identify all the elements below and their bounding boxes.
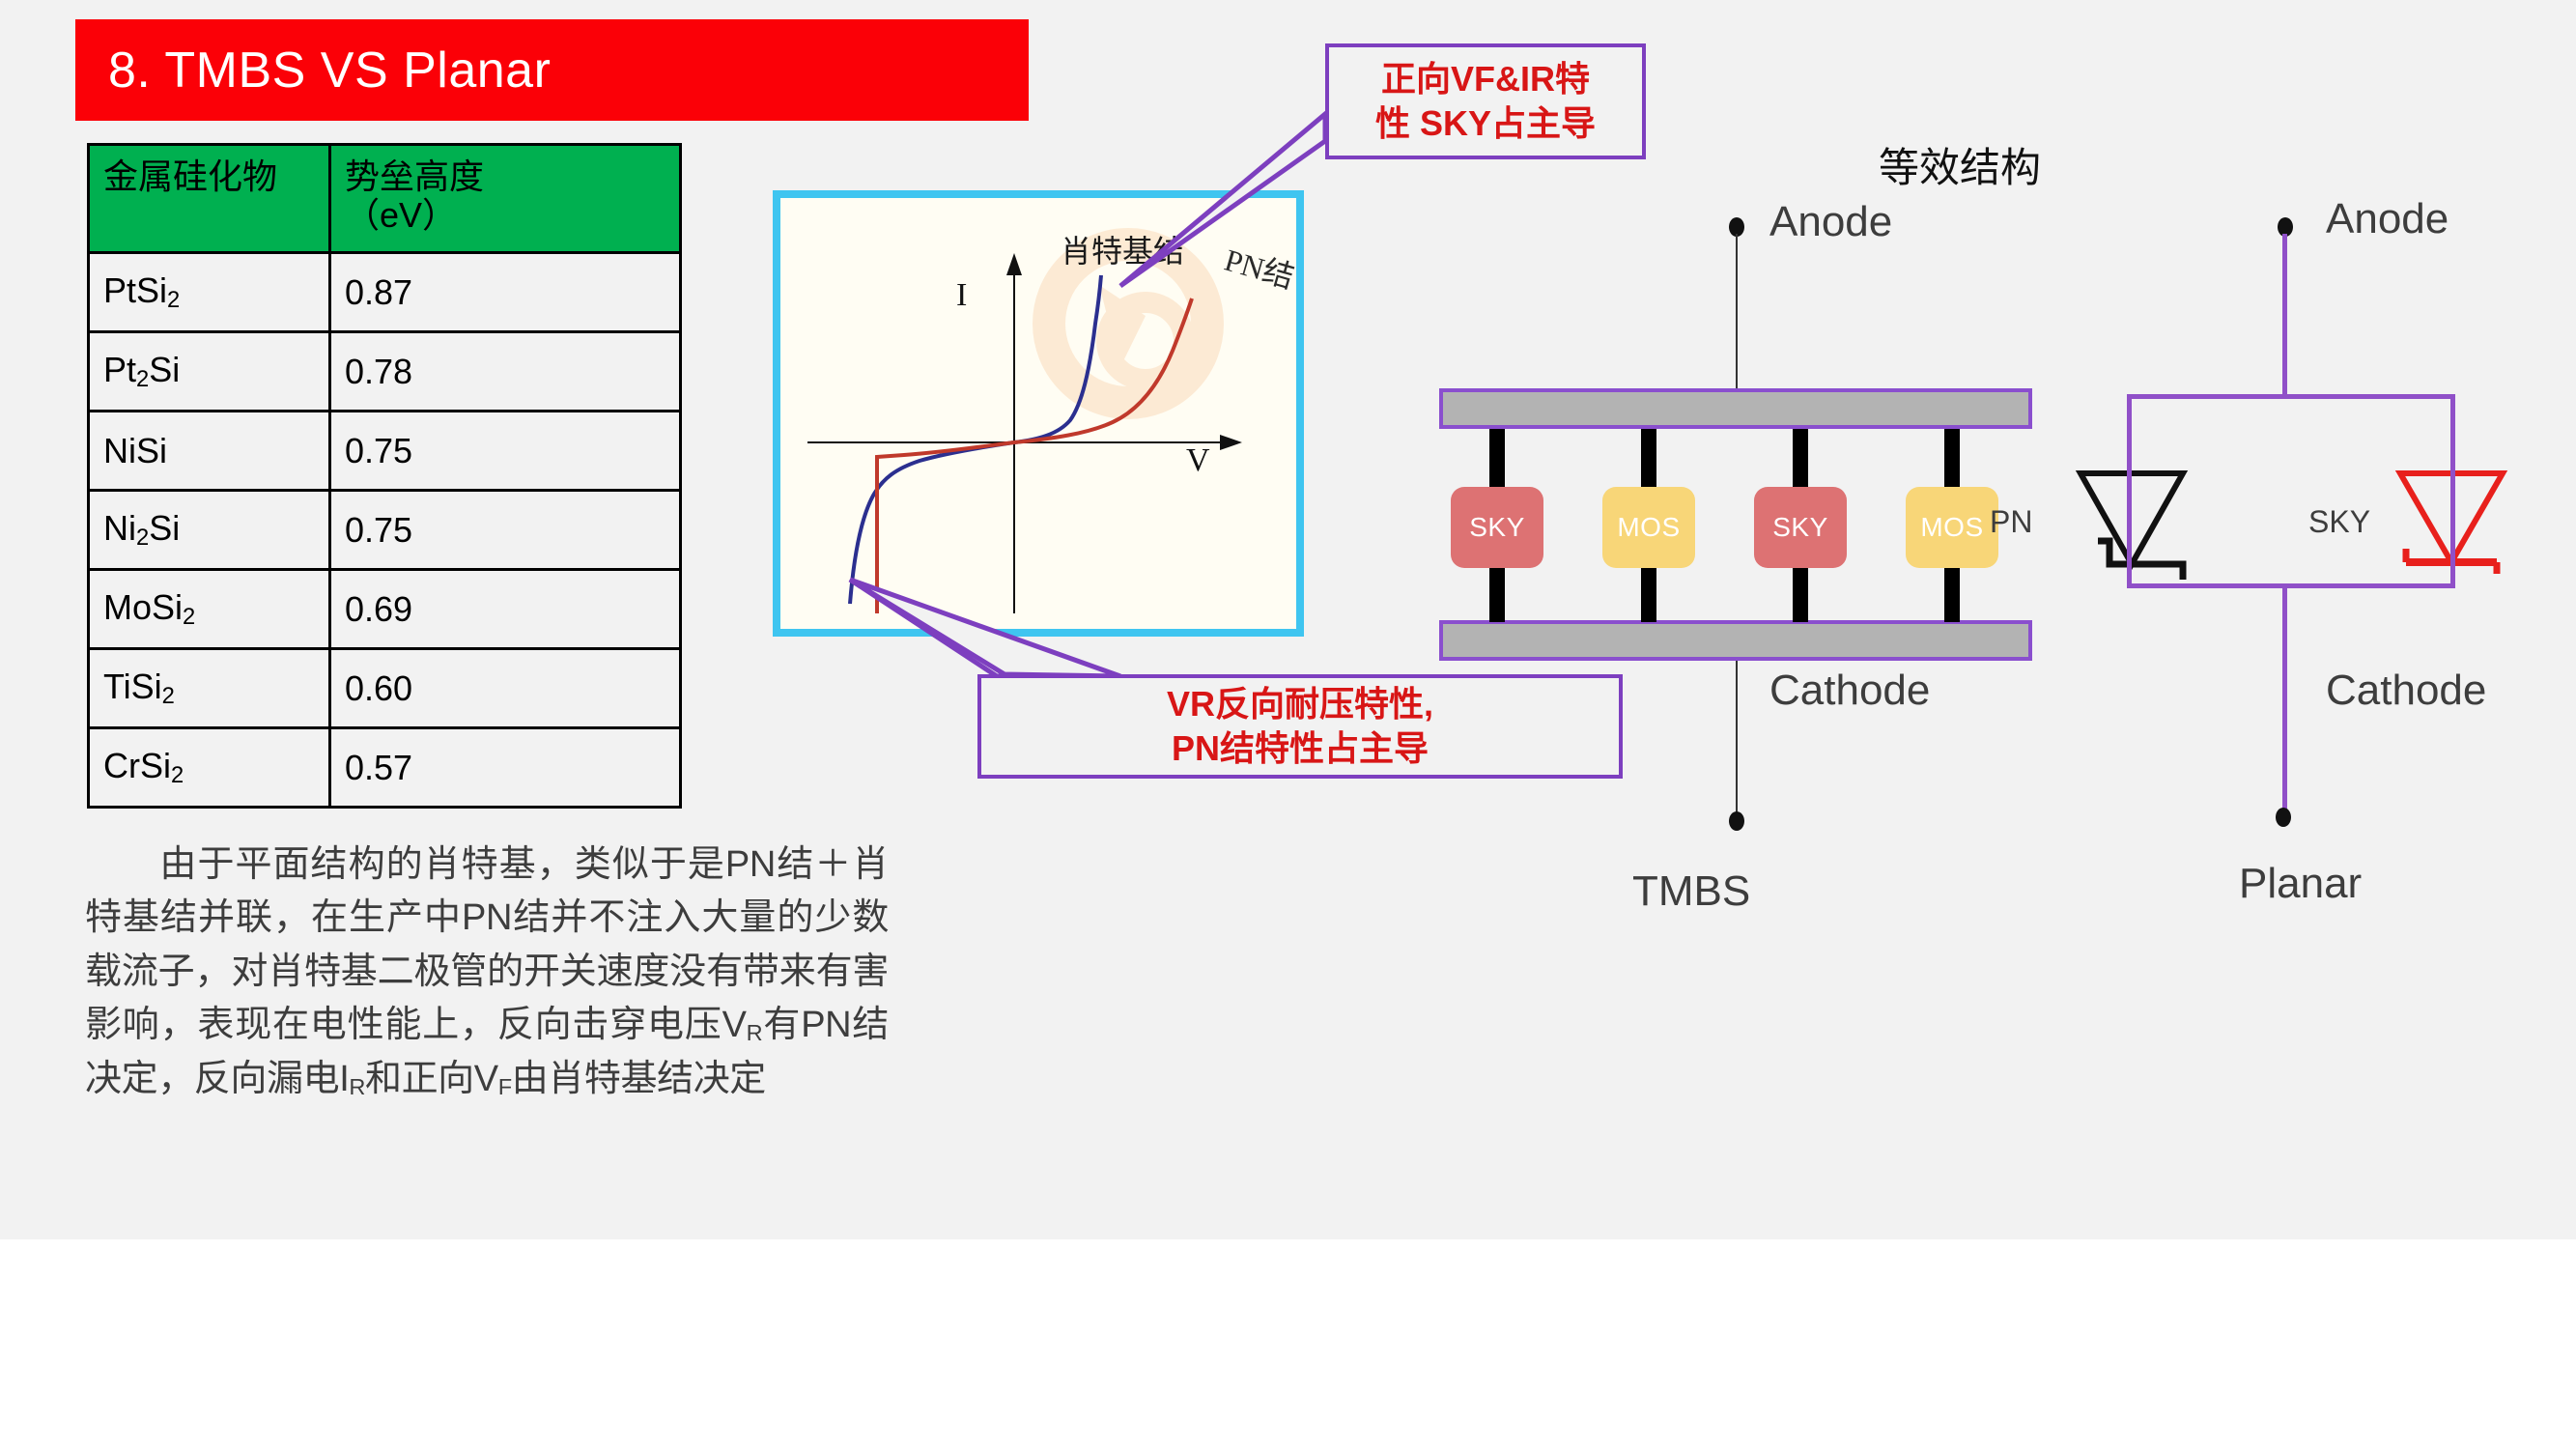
planar-structure-name: Planar — [2239, 860, 2362, 908]
tmbs-cell-mos-2: MOS — [1906, 487, 1998, 568]
tmbs-stub — [1944, 568, 1960, 622]
subscript: 2 — [171, 762, 184, 788]
tmbs-anode-label: Anode — [1769, 198, 1892, 246]
cathode-lead — [1736, 661, 1738, 815]
table-row: NiSi 0.75 — [89, 412, 681, 491]
slide-footer: Mo tive SEMI MOTIVE SEMICONDUCTOR CORP. … — [0, 1239, 2576, 1449]
tmbs-stub — [1641, 429, 1656, 487]
silicide-barrier-table: 金属硅化物 势垒高度 （eV） PtSi2 0.87 Pt2Si 0.78 Ni… — [87, 143, 682, 809]
tmbs-stub — [1641, 568, 1656, 622]
subscript: 2 — [136, 525, 149, 551]
subscript: 2 — [183, 604, 195, 630]
callout-top-line1: 正向VF&IR特 — [1381, 57, 1590, 101]
planar-sky-label: SKY — [2308, 504, 2370, 540]
paragraph-subscript-r1: R — [747, 1021, 763, 1046]
column-header-barrier-line1: 势垒高度 — [345, 157, 665, 196]
table-row: PtSi2 0.87 — [89, 253, 681, 332]
slide-canvas: 8. TMBS VS Planar 金属硅化物 势垒高度 （eV） PtSi2 … — [0, 0, 2576, 1449]
tmbs-stub — [1489, 429, 1505, 487]
cell-barrier-value: 0.60 — [330, 649, 681, 728]
tmbs-top-metal-rail — [1439, 388, 2032, 429]
column-header-silicide: 金属硅化物 — [89, 145, 330, 253]
planar-cathode-lead — [2282, 583, 2287, 811]
anode-lead — [1736, 234, 1738, 390]
tmbs-cell-sky-2: SKY — [1754, 487, 1847, 568]
callout-bottom-line1: VR反向耐压特性, — [1167, 682, 1433, 726]
equivalent-structure-heading: 等效结构 — [1879, 135, 2041, 194]
cell-silicide-name: MoSi2 — [89, 570, 330, 649]
tmbs-cathode-label: Cathode — [1769, 667, 1930, 715]
cell-barrier-value: 0.75 — [330, 491, 681, 570]
planar-left-branch — [2127, 394, 2132, 471]
cathode-terminal-dot — [1729, 811, 1744, 831]
planar-cathode-terminal-dot — [2276, 808, 2291, 827]
tmbs-bottom-metal-rail — [1439, 620, 2032, 661]
table-header-row: 金属硅化物 势垒高度 （eV） — [89, 145, 681, 253]
subscript: 2 — [136, 366, 149, 392]
table-row: CrSi2 0.57 — [89, 728, 681, 808]
tmbs-stub — [1489, 568, 1505, 622]
tmbs-stub — [1793, 568, 1808, 622]
paragraph-part-3: 和正向V — [365, 1059, 498, 1099]
column-header-barrier: 势垒高度 （eV） — [330, 145, 681, 253]
x-axis-label: V — [1186, 442, 1210, 479]
iv-curve-svg — [780, 198, 1296, 629]
tmbs-cell-mos-1: MOS — [1602, 487, 1695, 568]
cell-silicide-name: PtSi2 — [89, 253, 330, 332]
planar-top-bus — [2127, 394, 2455, 399]
callout-bottom-line2: PN结特性占主导 — [1172, 726, 1429, 771]
cell-barrier-value: 0.57 — [330, 728, 681, 808]
tmbs-stub — [1793, 429, 1808, 487]
explanation-paragraph: 由于平面结构的肖特基，类似于是PN结＋肖特基结并联，在生产中PN结并不注入大量的… — [85, 838, 889, 1106]
callout-forward-characteristics: 正向VF&IR特 性 SKY占主导 — [1325, 43, 1646, 159]
planar-anode-label: Anode — [2326, 195, 2449, 243]
iv-characteristic-chart: 肖特基结 PN结 I V — [773, 190, 1304, 637]
subscript: 2 — [167, 287, 180, 313]
planar-cathode-label: Cathode — [2326, 667, 2486, 715]
page-title: 8. TMBS VS Planar — [75, 42, 551, 99]
paragraph-subscript-f: F — [498, 1074, 512, 1099]
cell-silicide-name: Ni2Si — [89, 491, 330, 570]
planar-sky-wire — [2450, 466, 2455, 587]
cell-silicide-name: TiSi2 — [89, 649, 330, 728]
tmbs-structure-name: TMBS — [1632, 867, 1750, 916]
table-row: TiSi2 0.60 — [89, 649, 681, 728]
tmbs-stub — [1944, 429, 1960, 487]
cell-silicide-name: Pt2Si — [89, 332, 330, 412]
cell-barrier-value: 0.69 — [330, 570, 681, 649]
planar-pn-label: PN — [1990, 504, 2032, 540]
table-row: Pt2Si 0.78 — [89, 332, 681, 412]
table-row: MoSi2 0.69 — [89, 570, 681, 649]
subscript: 2 — [162, 683, 175, 709]
cell-silicide-name: CrSi2 — [89, 728, 330, 808]
chart-annotation-schottky: 肖特基结 — [1061, 227, 1184, 271]
paragraph-part-4: 由肖特基结决定 — [512, 1059, 766, 1099]
planar-pn-wire — [2127, 466, 2132, 587]
pn-zener-diode-symbol — [2069, 466, 2194, 580]
tmbs-cell-sky-1: SKY — [1451, 487, 1543, 568]
cell-barrier-value: 0.78 — [330, 332, 681, 412]
column-header-barrier-line2: （eV） — [345, 196, 665, 235]
planar-bottom-bus — [2127, 583, 2455, 588]
cell-barrier-value: 0.87 — [330, 253, 681, 332]
planar-right-branch — [2450, 394, 2455, 471]
table-row: Ni2Si 0.75 — [89, 491, 681, 570]
cell-barrier-value: 0.75 — [330, 412, 681, 491]
callout-top-line2: 性 SKY占主导 — [1375, 101, 1596, 146]
planar-equivalent-circuit: Anode PN SKY Cathode Planar — [2115, 222, 2531, 840]
paragraph-subscript-r2: R — [349, 1074, 365, 1099]
y-axis-label: I — [956, 277, 967, 314]
cell-silicide-name: NiSi — [89, 412, 330, 491]
planar-anode-lead — [2282, 234, 2287, 396]
slide-title-bar: 8. TMBS VS Planar — [75, 19, 1029, 121]
series-pn-curve — [877, 298, 1192, 613]
